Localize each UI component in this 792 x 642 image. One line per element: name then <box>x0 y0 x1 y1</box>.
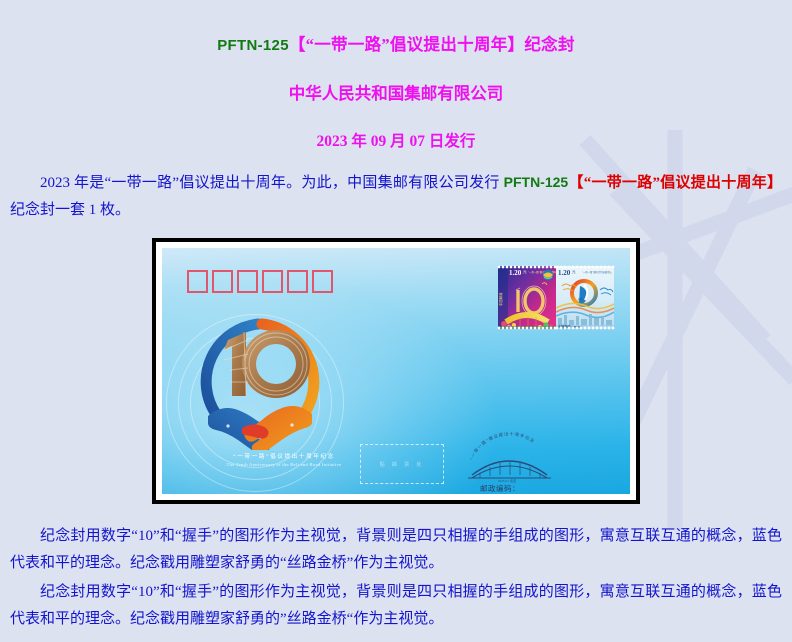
envelope-face: “一带一路”倡议提出十周年纪念 The Tenth Anniversary of… <box>162 248 630 494</box>
stamp-left: 中国邮政 1.20 元 “一带一路”倡议提出十周年 <box>498 266 556 329</box>
svg-text:丝路: 丝路 <box>578 297 583 301</box>
commemorative-postmark: “一带一路”倡议提出十周年纪念 2023.9.7 北京 <box>462 423 557 483</box>
intro-product-name: 【“一带一路”倡议提出十周年】 <box>568 175 782 191</box>
address-box-label: 贴 邮 票 处 <box>380 461 425 468</box>
postcode-box <box>237 270 258 293</box>
stamp-pair: 中国邮政 1.20 元 “一带一路”倡议提出十周年 <box>498 266 614 329</box>
postcode-boxes <box>187 270 333 293</box>
svg-text:中国邮政 CHINA: 中国邮政 CHINA <box>558 324 583 329</box>
page-title: PFTN-125【“一带一路”倡议提出十周年】纪念封 <box>0 0 792 55</box>
postcode-label: 邮政编码： <box>480 483 520 494</box>
intro-paragraph: 2023 年是“一带一路”倡议提出十周年。为此，中国集邮有限公司发行 PFTN-… <box>10 151 782 224</box>
postcode-box <box>187 270 208 293</box>
stamp-right: 1.20 元 “一带一路”国际合作高峰论坛 丝路 <box>556 266 614 329</box>
logo-caption: “一带一路”倡议提出十周年纪念 The Tenth Anniversary of… <box>184 452 384 467</box>
postcode-box <box>262 270 283 293</box>
title-product-name: 【“一带一路”倡议提出十周年】纪念封 <box>289 35 575 54</box>
belt-and-road-anniversary-logo <box>180 310 340 450</box>
svg-text:中国邮政: 中国邮政 <box>498 292 503 306</box>
intro-text-part1: 2023 年是“一带一路”倡议提出十周年。为此，中国集邮有限公司发行 <box>40 175 504 191</box>
svg-text:元: 元 <box>523 270 527 274</box>
postcode-box <box>212 270 233 293</box>
logo-caption-chinese: “一带一路”倡议提出十周年纪念 <box>184 452 384 460</box>
svg-text:“一带一路”倡议提出十周年纪念: “一带一路”倡议提出十周年纪念 <box>469 430 537 461</box>
issuer-name: 中华人民共和国集邮有限公司 <box>0 55 792 104</box>
logo-caption-english: The Tenth Anniversary of the Belt and Ro… <box>184 462 384 467</box>
intro-product-code: PFTN-125 <box>504 174 569 190</box>
postcode-box <box>312 270 333 293</box>
description-paragraph-2: 纪念封用数字“10”和“握手”的图形作为主视觉，背景则是四只相握的手组成的图形，… <box>10 577 782 633</box>
svg-text:1.20: 1.20 <box>558 269 571 277</box>
envelope-white-margin: “一带一路”倡议提出十周年纪念 The Tenth Anniversary of… <box>156 242 636 500</box>
svg-text:1.20: 1.20 <box>509 269 522 277</box>
svg-text:元: 元 <box>572 270 576 274</box>
intro-text-part2: 纪念封一套 1 枚。 <box>10 202 130 218</box>
address-placement-box: 贴 邮 票 处 <box>360 444 444 484</box>
issue-date: 2023 年 09 月 07 日发行 <box>0 104 792 151</box>
title-product-code: PFTN-125 <box>217 37 289 54</box>
description-paragraph-1: 纪念封用数字“10”和“握手”的图形作为主视觉，背景则是四只相握的手组成的图形，… <box>10 504 782 577</box>
postcode-box <box>287 270 308 293</box>
commemorative-envelope-image: “一带一路”倡议提出十周年纪念 The Tenth Anniversary of… <box>152 238 640 504</box>
